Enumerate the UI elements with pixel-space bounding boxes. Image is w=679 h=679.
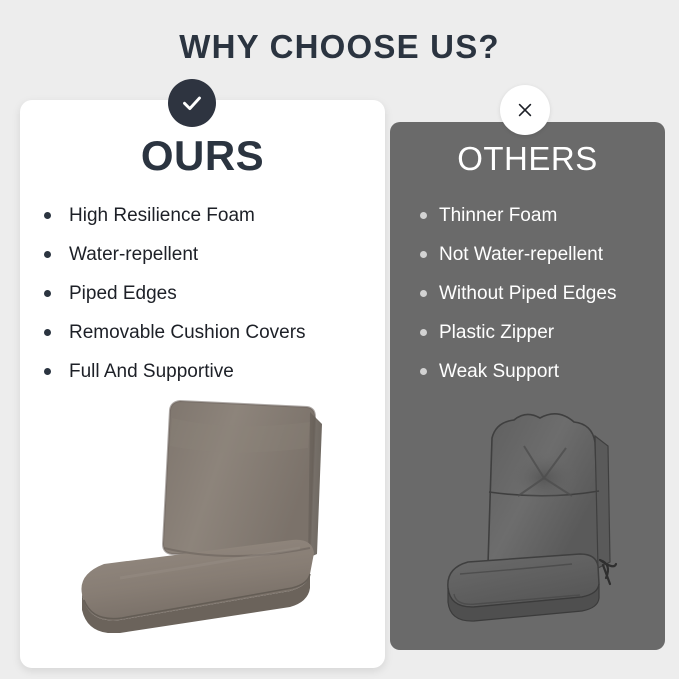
comparison-infographic: WHY CHOOSE US? OURS OTHERS High Resilien… <box>0 0 679 679</box>
feature-label: High Resilience Foam <box>69 205 255 227</box>
bullet-icon <box>420 251 427 258</box>
cushion-others-illustration <box>440 392 655 624</box>
product-image-others <box>440 392 655 624</box>
list-item: Without Piped Edges <box>420 274 660 313</box>
bullet-icon <box>420 212 427 219</box>
feature-label: Water-repellent <box>69 244 198 266</box>
page-title: WHY CHOOSE US? <box>0 28 679 66</box>
bullet-icon <box>420 290 427 297</box>
product-image-ours <box>60 388 350 633</box>
bullet-icon <box>44 329 51 336</box>
feature-list-ours: High Resilience Foam Water-repellent Pip… <box>44 196 374 391</box>
bullet-icon <box>44 251 51 258</box>
feature-label: Not Water-repellent <box>439 244 603 266</box>
list-item: Not Water-repellent <box>420 235 660 274</box>
bullet-icon <box>44 212 51 219</box>
check-badge <box>168 79 216 127</box>
list-item: Weak Support <box>420 352 660 391</box>
bullet-icon <box>420 329 427 336</box>
list-item: Full And Supportive <box>44 352 374 391</box>
feature-label: Removable Cushion Covers <box>69 322 306 344</box>
close-icon <box>512 97 538 123</box>
bullet-icon <box>44 290 51 297</box>
cushion-ours-illustration <box>60 388 350 633</box>
feature-list-others: Thinner Foam Not Water-repellent Without… <box>420 196 660 391</box>
list-item: Removable Cushion Covers <box>44 313 374 352</box>
feature-label: Weak Support <box>439 361 559 383</box>
feature-label: Piped Edges <box>69 283 177 305</box>
feature-label: Plastic Zipper <box>439 322 554 344</box>
heading-ours: OURS <box>20 132 385 180</box>
bullet-icon <box>44 368 51 375</box>
feature-label: Full And Supportive <box>69 361 234 383</box>
heading-others: OTHERS <box>390 140 665 178</box>
list-item: Piped Edges <box>44 274 374 313</box>
check-icon <box>177 88 207 118</box>
list-item: Water-repellent <box>44 235 374 274</box>
close-badge <box>500 85 550 135</box>
feature-label: Thinner Foam <box>439 205 557 227</box>
list-item: Thinner Foam <box>420 196 660 235</box>
list-item: High Resilience Foam <box>44 196 374 235</box>
feature-label: Without Piped Edges <box>439 283 616 305</box>
list-item: Plastic Zipper <box>420 313 660 352</box>
bullet-icon <box>420 368 427 375</box>
